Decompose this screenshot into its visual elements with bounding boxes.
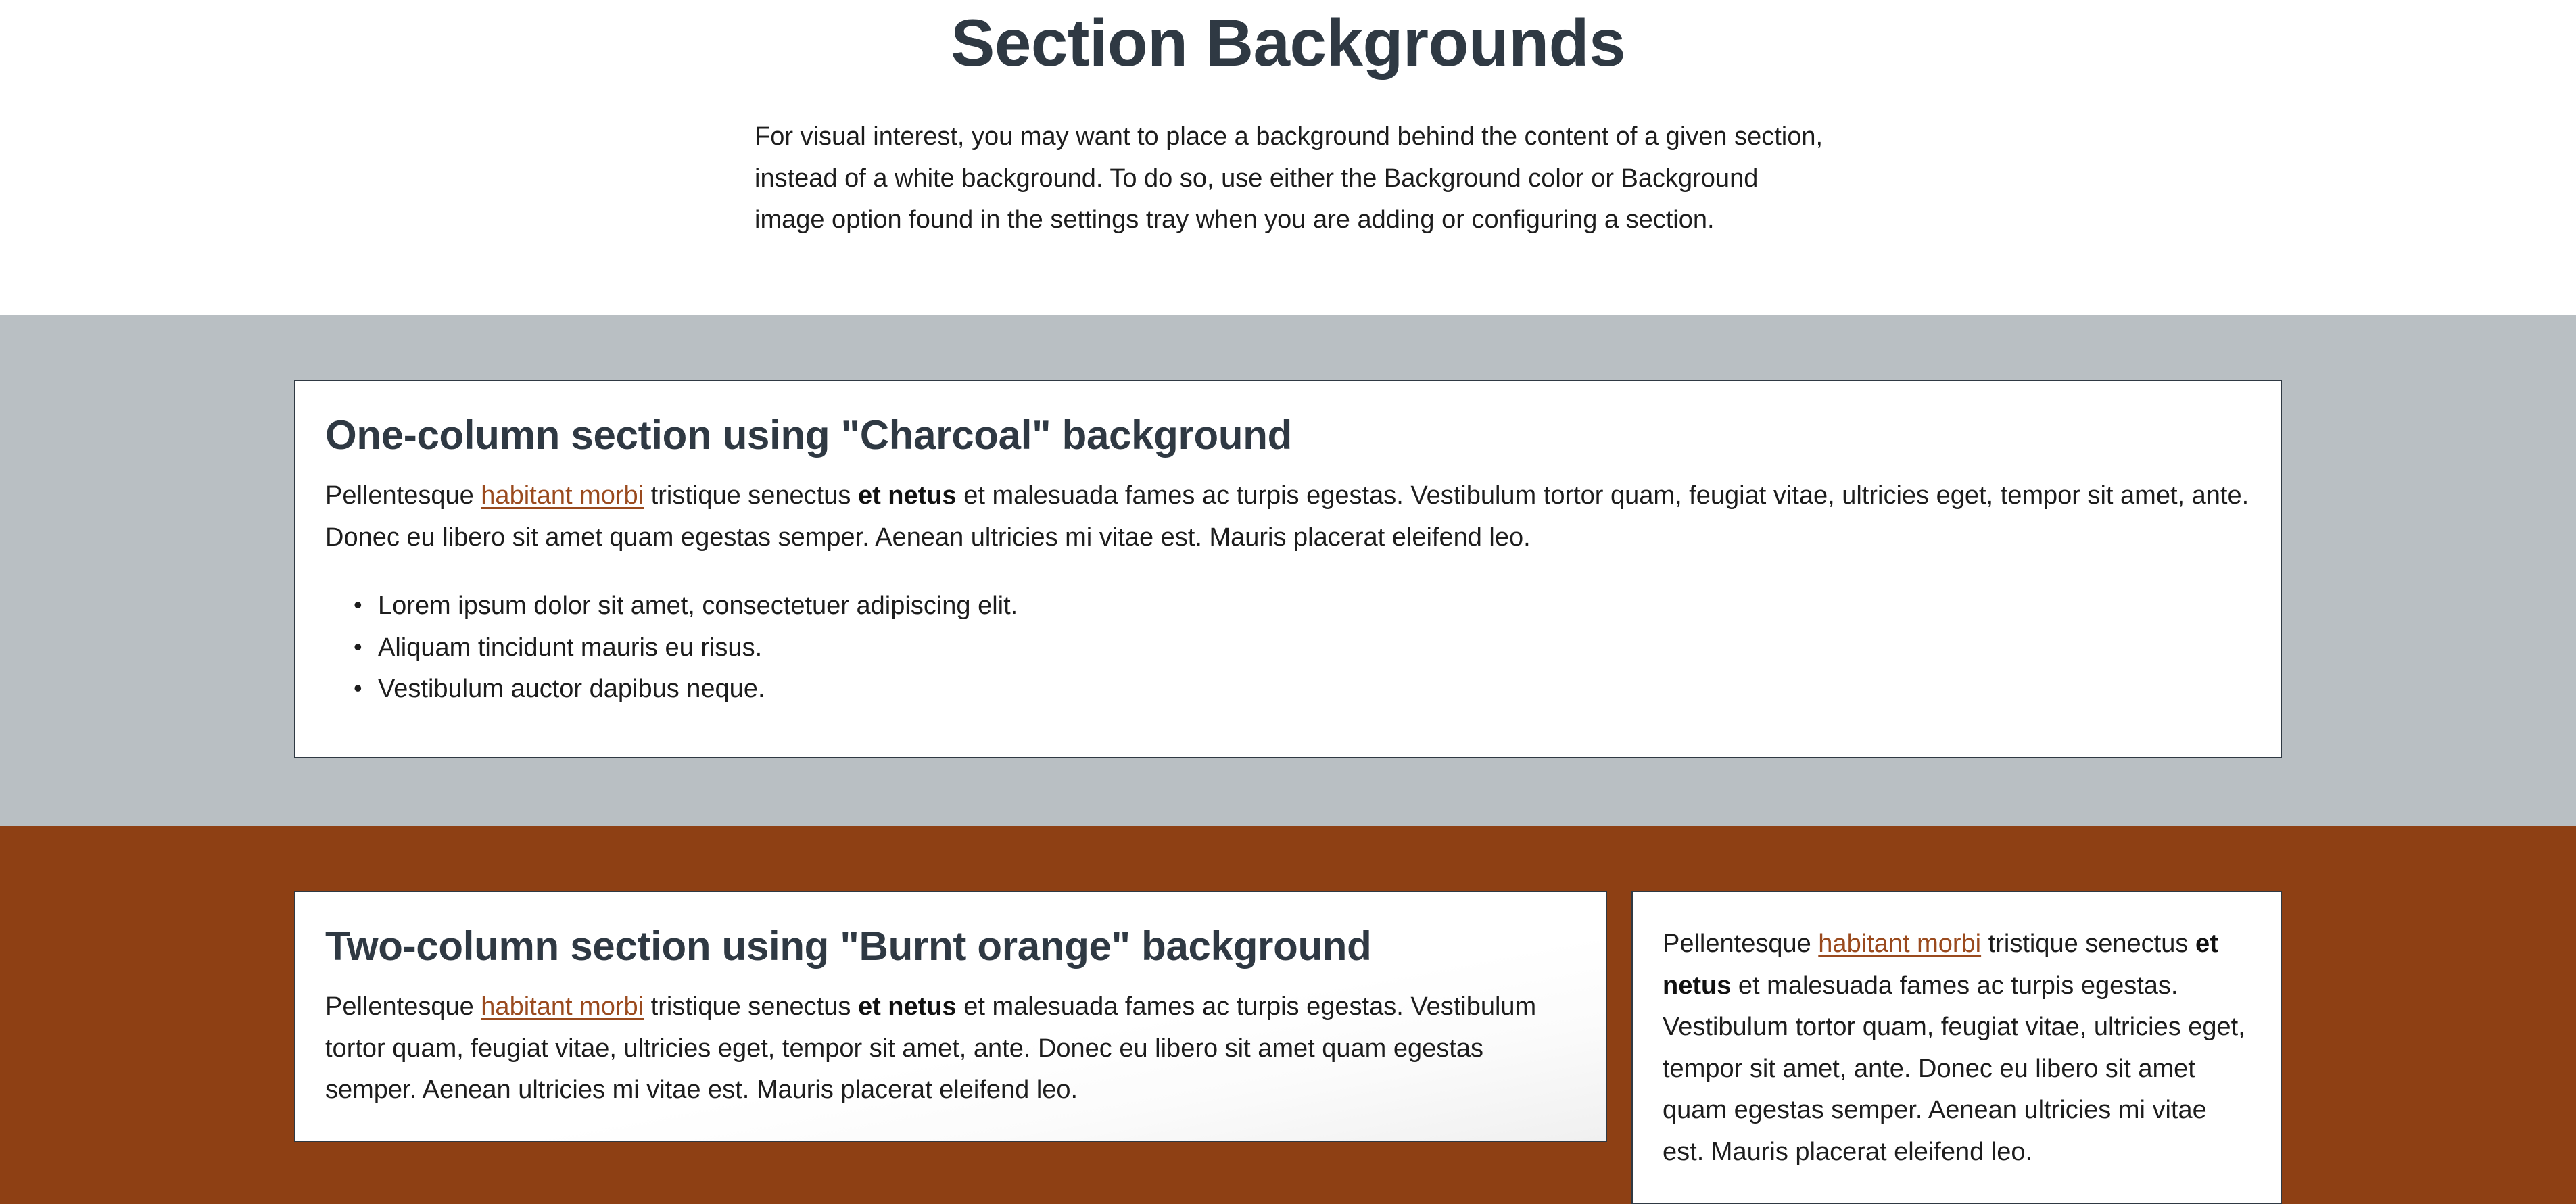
paragraph-tail-text: et malesuada fames ac turpis egestas. Ve… (1663, 971, 2245, 1166)
charcoal-card-heading: One-column section using "Charcoal" back… (325, 412, 2251, 458)
two-column-left: Two-column section using "Burnt orange" … (294, 891, 1607, 1204)
page-title: Section Backgrounds (0, 5, 2576, 76)
habitant-morbi-link[interactable]: habitant morbi (1818, 930, 1981, 958)
charcoal-container: One-column section using "Charcoal" back… (294, 380, 2282, 758)
burnt-orange-card-heading: Two-column section using "Burnt orange" … (325, 923, 1576, 969)
burnt-orange-container: Two-column section using "Burnt orange" … (294, 891, 2282, 1204)
charcoal-card-paragraph: Pellentesque habitant morbi tristique se… (325, 475, 2251, 558)
burnt-orange-right-card: Pellentesque habitant morbi tristique se… (1631, 891, 2282, 1204)
paragraph-middle-text: tristique senectus (644, 992, 858, 1021)
paragraph-lead-text: Pellentesque (325, 481, 481, 510)
two-column-grid: Two-column section using "Burnt orange" … (294, 891, 2282, 1204)
burnt-orange-left-paragraph: Pellentesque habitant morbi tristique se… (325, 986, 1576, 1111)
paragraph-middle-text: tristique senectus (644, 481, 858, 510)
paragraph-lead-text: Pellentesque (325, 992, 481, 1021)
paragraph-middle-text: tristique senectus (1981, 930, 2195, 958)
paragraph-bold-text: et netus (858, 992, 957, 1021)
list-item: Aliquam tincidunt mauris eu risus. (378, 627, 2251, 669)
intro-section: Section Backgrounds For visual interest,… (0, 0, 2576, 315)
charcoal-one-column-card: One-column section using "Charcoal" back… (294, 380, 2282, 758)
intro-copy-wrapper: For visual interest, you may want to pla… (0, 76, 2576, 241)
list-item: Vestibulum auctor dapibus neque. (378, 669, 2251, 711)
charcoal-background-section: One-column section using "Charcoal" back… (0, 315, 2576, 826)
burnt-orange-right-paragraph: Pellentesque habitant morbi tristique se… (1663, 923, 2253, 1173)
habitant-morbi-link[interactable]: habitant morbi (481, 992, 644, 1021)
two-column-right: Pellentesque habitant morbi tristique se… (1631, 891, 2282, 1204)
burnt-orange-left-card: Two-column section using "Burnt orange" … (294, 891, 1607, 1142)
habitant-morbi-link[interactable]: habitant morbi (481, 481, 644, 510)
charcoal-card-bullet-list: Lorem ipsum dolor sit amet, consectetuer… (325, 585, 2251, 711)
paragraph-lead-text: Pellentesque (1663, 930, 1818, 958)
intro-paragraph: For visual interest, you may want to pla… (755, 116, 1830, 241)
burnt-orange-background-section: Two-column section using "Burnt orange" … (0, 826, 2576, 1204)
paragraph-bold-text: et netus (858, 481, 957, 510)
list-item: Lorem ipsum dolor sit amet, consectetuer… (378, 585, 2251, 627)
